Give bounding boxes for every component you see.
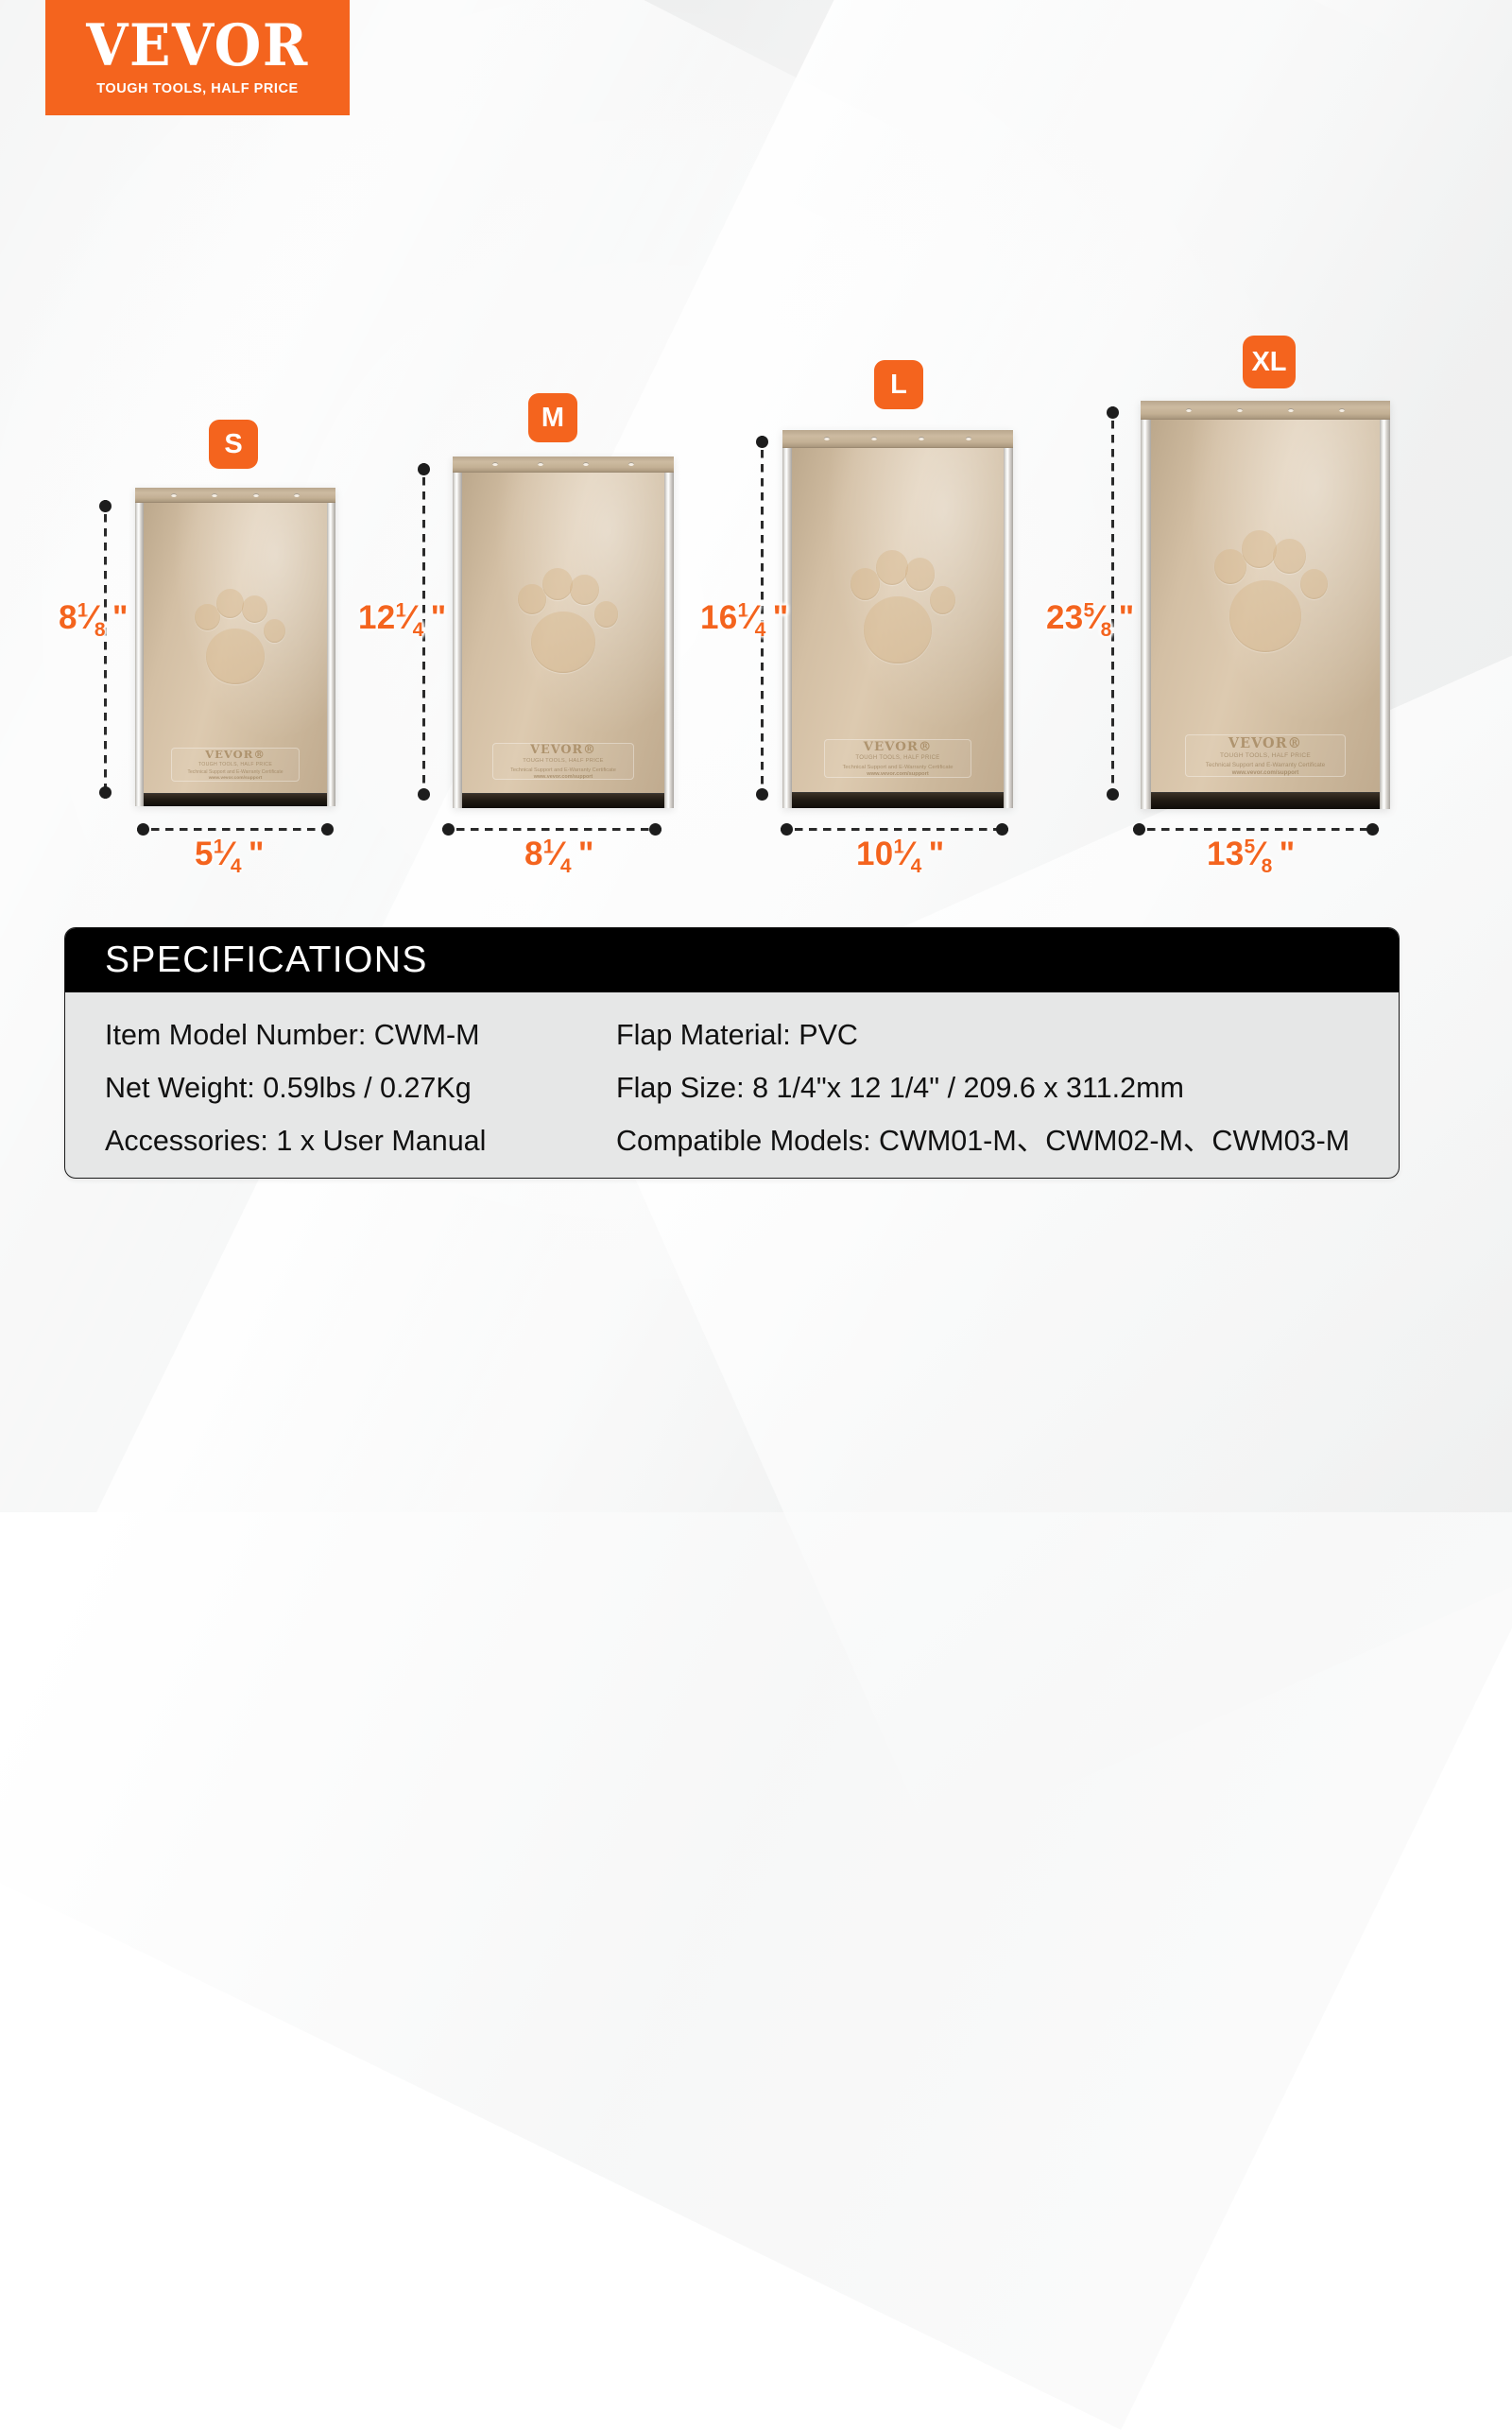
screw-hole-icon xyxy=(1237,408,1243,412)
paw-print-icon xyxy=(1196,494,1333,669)
vevor-logo: VEVOR TOUGH TOOLS, HALF PRICE xyxy=(45,0,350,115)
width-dimension-line-m xyxy=(442,828,661,831)
paw-pad xyxy=(1229,580,1302,652)
pet-door-flap-m: VEVOR®TOUGH TOOLS, HALF PRICETechnical S… xyxy=(453,457,674,808)
spec-row: Item Model Number: CWM-M xyxy=(105,1011,594,1059)
paw-print-icon xyxy=(834,517,961,679)
spec-row: Compatible Models: CWM01-M、CWM02-M、CWM03… xyxy=(616,1117,1399,1164)
dimension-endpoint-dot xyxy=(996,823,1008,836)
dimension-endpoint-dot xyxy=(418,463,430,475)
paw-pad xyxy=(570,575,598,605)
height-label-xl: 235⁄8" xyxy=(1046,599,1133,637)
screw-hole-icon xyxy=(538,462,543,466)
paw-pad xyxy=(876,550,908,585)
pet-door-flap-s: VEVOR®TOUGH TOOLS, HALF PRICETechnical S… xyxy=(135,488,335,806)
specifications-column-left: Item Model Number: CWM-M Net Weight: 0.5… xyxy=(65,1011,594,1164)
screw-hole-icon xyxy=(492,462,498,466)
width-label-s: 51⁄4" xyxy=(195,836,264,873)
sticker-warranty-line: Technical Support and E-Warranty Certifi… xyxy=(510,767,616,774)
height-label-m: 121⁄4" xyxy=(358,599,445,637)
spec-row: Flap Material: PVC xyxy=(616,1011,1399,1059)
spec-row: Accessories: 1 x User Manual xyxy=(105,1117,594,1164)
screw-hole-icon xyxy=(871,437,877,440)
paw-pad xyxy=(594,601,619,627)
paw-print-icon xyxy=(503,537,624,687)
vevor-warranty-sticker: VEVOR®TOUGH TOOLS, HALF PRICETechnical S… xyxy=(1185,734,1345,777)
paw-pad xyxy=(1273,539,1305,574)
flap-face: VEVOR®TOUGH TOOLS, HALF PRICETechnical S… xyxy=(1151,420,1380,792)
size-badge-s: S xyxy=(209,420,258,469)
dimension-endpoint-dot xyxy=(99,786,112,799)
width-label-m: 81⁄4" xyxy=(524,836,593,873)
spec-row: Flap Size: 8 1/4"x 12 1/4" / 209.6 x 311… xyxy=(616,1064,1399,1112)
pet-door-flap-xl: VEVOR®TOUGH TOOLS, HALF PRICETechnical S… xyxy=(1141,401,1390,809)
paw-print-icon xyxy=(180,560,290,697)
dimension-endpoint-dot xyxy=(321,823,334,836)
paw-pad xyxy=(195,604,220,630)
paw-pad xyxy=(531,612,595,673)
size-badge-m: M xyxy=(528,393,577,442)
screw-hole-icon xyxy=(583,462,589,466)
paw-pad xyxy=(864,596,931,663)
mounting-bar xyxy=(1141,401,1390,420)
dimension-endpoint-dot xyxy=(99,500,112,512)
screw-hole-icon xyxy=(1186,408,1192,412)
side-rail-right xyxy=(1004,448,1013,808)
sticker-brand: VEVOR® xyxy=(1228,735,1302,752)
side-rail-right xyxy=(1380,420,1390,809)
sticker-tagline: TOUGH TOOLS, HALF PRICE xyxy=(1220,752,1311,760)
sticker-brand: VEVOR® xyxy=(864,739,933,755)
pet-door-flap-l: VEVOR®TOUGH TOOLS, HALF PRICETechnical S… xyxy=(782,430,1013,808)
screw-hole-icon xyxy=(1288,408,1294,412)
paw-pad xyxy=(542,568,573,600)
paw-pad xyxy=(518,584,546,613)
paw-pad xyxy=(242,595,267,623)
sticker-tagline: TOUGH TOOLS, HALF PRICE xyxy=(198,762,272,768)
sticker-url: www.vevor.com/support xyxy=(867,771,929,778)
vevor-warranty-sticker: VEVOR®TOUGH TOOLS, HALF PRICETechnical S… xyxy=(171,748,300,781)
screw-hole-icon xyxy=(171,493,177,497)
width-dimension-line-xl xyxy=(1133,828,1379,831)
height-label-s: 81⁄8" xyxy=(59,599,128,637)
sticker-brand: VEVOR® xyxy=(530,743,596,758)
paw-pad xyxy=(1242,530,1276,568)
vevor-warranty-sticker: VEVOR®TOUGH TOOLS, HALF PRICETechnical S… xyxy=(492,743,634,780)
specifications-column-right: Flap Material: PVC Flap Size: 8 1/4"x 12… xyxy=(594,1011,1399,1164)
screw-hole-icon xyxy=(294,493,300,497)
sticker-url: www.vevor.com/support xyxy=(534,774,593,781)
weighted-bottom-bar xyxy=(144,793,327,806)
side-rail-left xyxy=(453,473,462,808)
weighted-bottom-bar xyxy=(1151,792,1380,809)
size-badge-xl: XL xyxy=(1243,336,1296,388)
logo-tagline: TOUGH TOOLS, HALF PRICE xyxy=(96,81,299,96)
logo-wordmark: VEVOR xyxy=(86,17,308,74)
sticker-url: www.vevor.com/support xyxy=(1232,769,1299,777)
mounting-bar xyxy=(135,488,335,503)
dimension-endpoint-dot xyxy=(1107,406,1119,419)
sticker-url: www.vevor.com/support xyxy=(209,776,263,782)
vevor-warranty-sticker: VEVOR®TOUGH TOOLS, HALF PRICETechnical S… xyxy=(824,739,972,779)
screw-hole-icon xyxy=(253,493,259,497)
side-rail-right xyxy=(327,503,335,806)
mounting-bar xyxy=(453,457,674,473)
product-size-comparison: SVEVOR®TOUGH TOOLS, HALF PRICETechnical … xyxy=(0,0,1512,907)
paw-pad xyxy=(905,558,936,590)
dimension-endpoint-dot xyxy=(756,436,768,448)
sticker-tagline: TOUGH TOOLS, HALF PRICE xyxy=(523,758,604,765)
flap-face: VEVOR®TOUGH TOOLS, HALF PRICETechnical S… xyxy=(462,473,664,793)
paw-pad xyxy=(930,586,955,613)
screw-hole-icon xyxy=(966,437,971,440)
size-badge-l: L xyxy=(874,360,923,409)
side-rail-left xyxy=(135,503,144,806)
dimension-endpoint-dot xyxy=(1133,823,1145,836)
width-label-l: 101⁄4" xyxy=(856,836,943,873)
width-dimension-line-s xyxy=(137,828,334,831)
width-label-xl: 135⁄8" xyxy=(1207,836,1294,873)
dimension-endpoint-dot xyxy=(442,823,455,836)
screw-hole-icon xyxy=(212,493,217,497)
sticker-warranty-line: Technical Support and E-Warranty Certifi… xyxy=(1206,762,1325,769)
dimension-endpoint-dot xyxy=(1107,788,1119,801)
dimension-endpoint-dot xyxy=(137,823,149,836)
side-rail-left xyxy=(1141,420,1151,809)
weighted-bottom-bar xyxy=(792,792,1004,808)
dimension-endpoint-dot xyxy=(756,788,768,801)
sticker-tagline: TOUGH TOOLS, HALF PRICE xyxy=(855,755,939,763)
mounting-bar xyxy=(782,430,1013,448)
specifications-header: SPECIFICATIONS xyxy=(65,928,1399,992)
paw-pad xyxy=(1300,569,1328,599)
width-dimension-line-l xyxy=(781,828,1008,831)
sticker-warranty-line: Technical Support and E-Warranty Certifi… xyxy=(842,765,953,771)
flap-face: VEVOR®TOUGH TOOLS, HALF PRICETechnical S… xyxy=(792,448,1004,792)
dimension-endpoint-dot xyxy=(418,788,430,801)
height-label-l: 161⁄4" xyxy=(700,599,787,637)
height-dimension-line-s xyxy=(104,500,107,799)
sticker-brand: VEVOR® xyxy=(205,748,266,761)
paw-pad xyxy=(850,568,880,600)
paw-pad xyxy=(1214,549,1246,583)
dimension-endpoint-dot xyxy=(1366,823,1379,836)
screw-hole-icon xyxy=(1339,408,1345,412)
paw-pad xyxy=(264,619,285,643)
dimension-endpoint-dot xyxy=(649,823,661,836)
screw-hole-icon xyxy=(824,437,830,440)
specifications-panel: SPECIFICATIONS Item Model Number: CWM-M … xyxy=(64,927,1400,1179)
screw-hole-icon xyxy=(919,437,924,440)
paw-pad xyxy=(216,589,244,618)
paw-pad xyxy=(206,629,265,684)
weighted-bottom-bar xyxy=(462,793,664,808)
screw-hole-icon xyxy=(628,462,634,466)
side-rail-right xyxy=(664,473,674,808)
spec-row: Net Weight: 0.59lbs / 0.27Kg xyxy=(105,1064,594,1112)
dimension-endpoint-dot xyxy=(781,823,793,836)
specifications-title: SPECIFICATIONS xyxy=(105,939,428,981)
flap-face: VEVOR®TOUGH TOOLS, HALF PRICETechnical S… xyxy=(144,503,327,793)
specifications-body: Item Model Number: CWM-M Net Weight: 0.5… xyxy=(65,992,1399,1164)
